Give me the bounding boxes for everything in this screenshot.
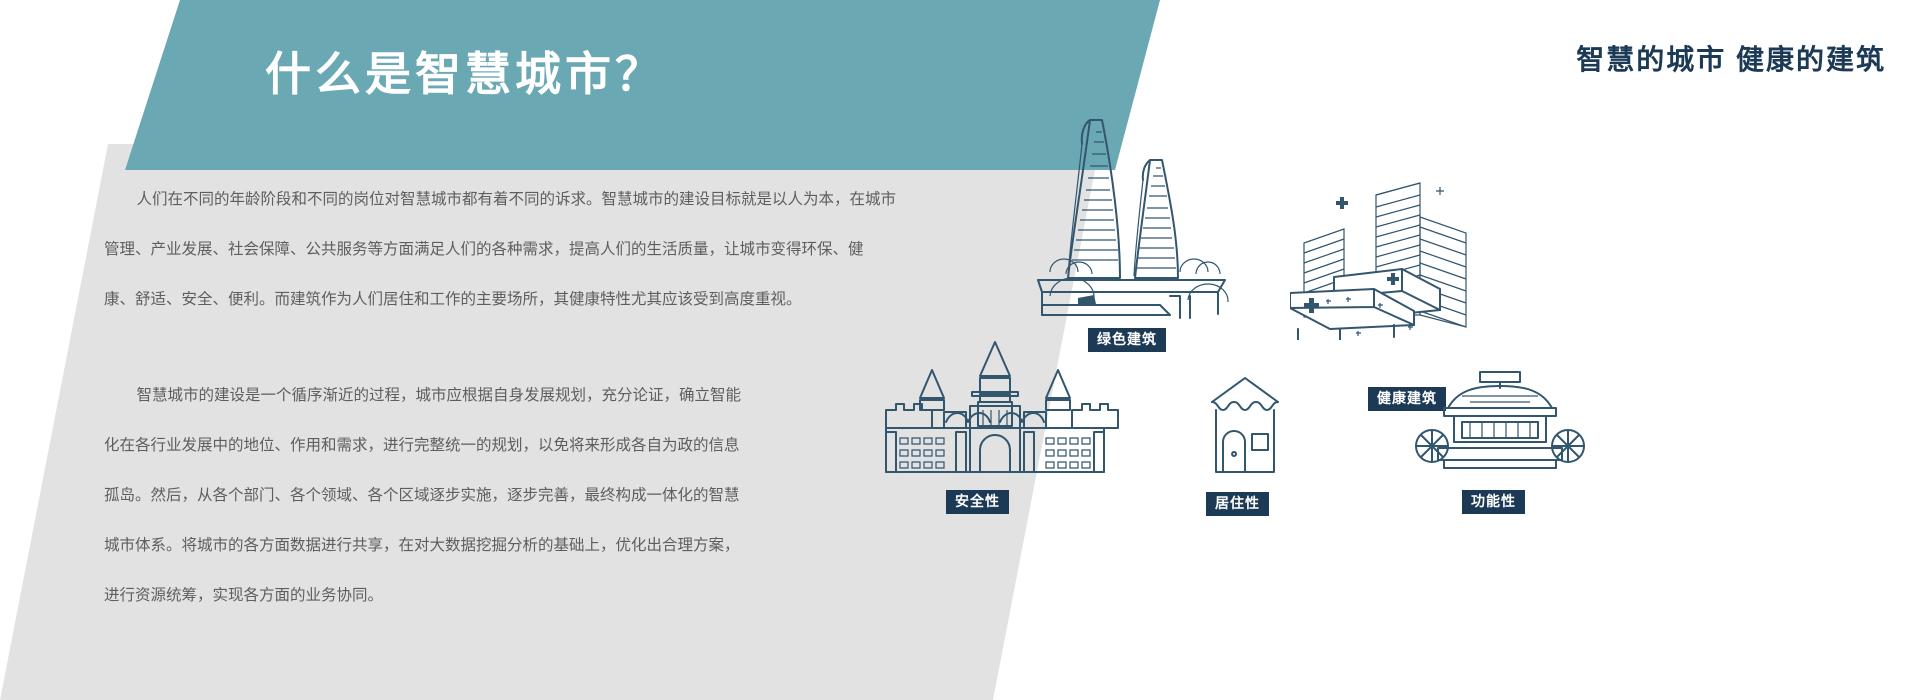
badge-functionality: 功能性	[1462, 490, 1525, 514]
paragraph-2-line-4: 城市体系。将城市的各方面数据进行共享，在对大数据挖掘分析的基础上，优化出合理方案…	[104, 521, 904, 571]
illustration-livability: 居住性	[1190, 368, 1300, 493]
illustration-functionality: 功能性	[1410, 366, 1590, 491]
paragraph-2-line-3: 孤岛。然后，从各个部门、各个领域、各个区域逐步实施，逐步完善，最终构成一体化的智…	[104, 471, 904, 521]
pavilion-icon	[1410, 366, 1590, 486]
hospital-building-icon	[1290, 165, 1530, 340]
badge-security: 安全性	[946, 490, 1009, 514]
paragraph-2-line-5: 进行资源统筹，实现各方面的业务协同。	[104, 571, 904, 621]
paragraph-1-line-1: 人们在不同的年龄阶段和不同的岗位对智慧城市都有着不同的诉求。智慧城市的建设目标就…	[104, 175, 904, 225]
slide-root: 什么是智慧城市？ 智慧的城市 健康的建筑 人们在不同的年龄阶段和不同的岗位对智慧…	[0, 0, 1920, 700]
illustration-green-building: 绿色建筑	[1020, 100, 1250, 335]
twin-towers-icon	[1020, 100, 1250, 330]
illustration-health-building: 健康建筑	[1290, 165, 1530, 345]
paragraph-2-line-1: 智慧城市的建设是一个循序渐近的过程，城市应根据自身发展规划，充分论证，确立智能	[104, 371, 904, 421]
paragraph-1-line-3: 康、舒适、安全、便利。而建筑作为人们居住和工作的主要场所，其健康特性尤其应该受到…	[104, 275, 904, 325]
page-title: 什么是智慧城市？	[265, 38, 665, 104]
illustration-grid: 绿色建筑	[1020, 90, 1920, 700]
paragraph-2-line-2: 化在各行业发展中的地位、作用和需求，进行完整统一的规划，以免将来形成各自为政的信…	[104, 421, 904, 471]
body-copy: 人们在不同的年龄阶段和不同的岗位对智慧城市都有着不同的诉求。智慧城市的建设目标就…	[104, 175, 904, 621]
house-icon	[1190, 368, 1300, 488]
right-headline: 智慧的城市 健康的建筑	[1576, 38, 1886, 78]
castle-icon	[860, 340, 1130, 480]
illustration-security: 安全性	[860, 340, 1130, 485]
badge-livability: 居住性	[1206, 492, 1269, 516]
paragraph-spacer	[104, 325, 904, 371]
paragraph-1-line-2: 管理、产业发展、社会保障、公共服务等方面满足人们的各种需求，提高人们的生活质量，…	[104, 225, 904, 275]
